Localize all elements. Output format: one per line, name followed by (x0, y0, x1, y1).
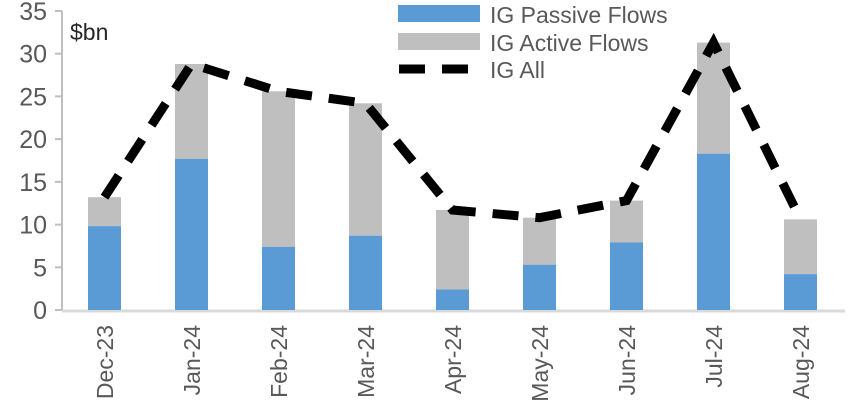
x-label-jul-24: Jul-24 (701, 325, 727, 388)
bar-group-feb-24 (262, 91, 295, 310)
bar-passive-may-24 (523, 265, 556, 310)
bar-active-apr-24 (436, 210, 469, 290)
x-label-may-24: May-24 (527, 325, 553, 402)
bar-group-jul-24 (697, 43, 730, 310)
bar-passive-dec-23 (88, 226, 121, 310)
y-tick-label-0: 0 (33, 297, 47, 325)
bar-passive-mar-24 (349, 236, 382, 310)
bar-passive-feb-24 (262, 247, 295, 310)
bar-group-may-24 (523, 218, 556, 310)
legend-swatch-ig-passive-flows (398, 5, 480, 22)
bar-passive-aug-24 (784, 274, 817, 310)
bar-active-may-24 (523, 218, 556, 265)
x-label-dec-23: Dec-23 (92, 325, 118, 399)
y-tick-label-20: 20 (19, 126, 47, 154)
bar-group-mar-24 (349, 103, 382, 310)
y-tick-label-25: 25 (19, 83, 47, 111)
bar-group-jun-24 (610, 201, 643, 310)
x-label-jan-24: Jan-24 (179, 325, 205, 396)
bar-group-dec-23 (88, 197, 121, 310)
bar-passive-jan-24 (175, 159, 208, 310)
x-label-apr-24: Apr-24 (440, 325, 466, 394)
y-tick-label-10: 10 (19, 212, 47, 240)
unit-label: $bn (70, 19, 108, 45)
bar-group-apr-24 (436, 210, 469, 310)
bar-active-jul-24 (697, 43, 730, 154)
bar-passive-jun-24 (610, 243, 643, 311)
legend-swatch-ig-active-flows (398, 33, 480, 50)
bar-passive-jul-24 (697, 154, 730, 310)
bar-active-aug-24 (784, 219, 817, 274)
bar-active-dec-23 (88, 197, 121, 226)
y-tick-label-15: 15 (19, 169, 47, 197)
bar-active-feb-24 (262, 91, 295, 247)
legend-label-ig-all: IG All (490, 57, 545, 83)
x-label-feb-24: Feb-24 (266, 325, 292, 398)
stacked-bar-line-chart: 35 30 25 20 15 10 5 0 $bn (0, 0, 852, 417)
x-label-jun-24: Jun-24 (614, 325, 640, 396)
bar-active-jun-24 (610, 201, 643, 243)
y-tick-label-35: 35 (19, 0, 47, 26)
bar-group-jan-24 (175, 64, 208, 310)
x-label-mar-24: Mar-24 (353, 325, 379, 398)
bar-group-aug-24 (784, 219, 817, 310)
x-label-aug-24: Aug-24 (788, 325, 814, 399)
legend-label-ig-active-flows: IG Active Flows (490, 30, 648, 56)
y-tick-label-30: 30 (19, 41, 47, 69)
y-tick-label-5: 5 (33, 254, 47, 282)
legend-label-ig-passive-flows: IG Passive Flows (490, 2, 668, 28)
chart-container: 35 30 25 20 15 10 5 0 $bn (0, 0, 852, 417)
bar-passive-apr-24 (436, 290, 469, 311)
